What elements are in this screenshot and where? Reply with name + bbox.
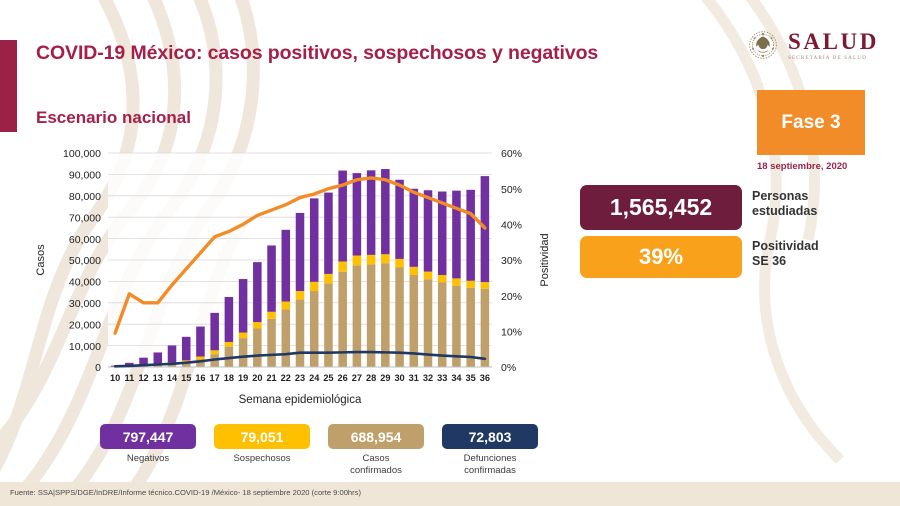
bar-segment (324, 274, 333, 284)
y2-axis-tick-label: 50% (501, 184, 522, 196)
bar-segment (353, 256, 362, 266)
bar-segment (253, 322, 262, 328)
x-axis-tick-label: 34 (451, 373, 462, 383)
y2-axis-title: Positividad (539, 233, 551, 286)
x-axis-tick-label: 29 (380, 373, 390, 383)
y-axis-tick-label: 100,000 (63, 148, 101, 160)
bar-segment (239, 338, 248, 367)
legend-label: Negativos (127, 453, 169, 465)
positividad-label-line1: Positividad (752, 239, 892, 254)
personas-estudiadas-value: 1,565,452 (610, 194, 712, 221)
bar-segment (154, 352, 163, 364)
legend-chip: 797,447 (100, 424, 196, 449)
x-axis-tick-label: 25 (323, 373, 333, 383)
x-axis-tick-label: 26 (338, 373, 348, 383)
bar-segment (338, 261, 347, 271)
x-axis-tick-label: 22 (281, 373, 291, 383)
y-axis-tick-label: 70,000 (69, 212, 101, 224)
bar-segment (239, 333, 248, 339)
bar-segment (225, 297, 234, 342)
y-axis-title: Casos (35, 244, 47, 276)
legend-label: Defuncionesconfirmadas (464, 453, 517, 477)
bar-segment (168, 345, 177, 362)
x-axis-tick-label: 30 (394, 373, 404, 383)
x-axis-tick-label: 15 (181, 373, 191, 383)
bar-segment (452, 191, 461, 279)
legend-item: 797,447Negativos (100, 424, 196, 482)
bar-segment (239, 279, 248, 333)
legend-value: 72,803 (469, 429, 512, 445)
bar-segment (253, 262, 262, 322)
y-axis-tick-label: 80,000 (69, 191, 101, 203)
x-axis-tick-label: 14 (167, 373, 178, 383)
legend-label: Sospechosos (233, 453, 290, 465)
legend-value: 797,447 (123, 429, 174, 445)
legend-label: Casosconfirmados (350, 453, 402, 477)
y-axis-tick-label: 0 (95, 362, 101, 374)
bar-segment (395, 180, 404, 259)
covid-chart: 010,00020,00030,00040,00050,00060,00070,… (0, 135, 560, 410)
x-axis-tick-label: 24 (309, 373, 320, 383)
bar-segment (310, 282, 319, 291)
page-title: COVID-19 México: casos positivos, sospec… (36, 42, 598, 65)
salud-logo: SALUD SECRETARÍA DE SALUD (744, 22, 884, 68)
legend-chip: 79,051 (214, 424, 310, 449)
y-axis-tick-label: 60,000 (69, 234, 101, 246)
personas-label-line2: estudiadas (752, 204, 892, 219)
bar-segment (296, 291, 305, 300)
y-axis-tick-label: 50,000 (69, 255, 101, 267)
x-axis-tick-label: 17 (210, 373, 220, 383)
bar-segment (452, 286, 461, 367)
bar-segment (353, 173, 362, 255)
bar-segment (381, 254, 390, 263)
bar-segment (210, 313, 219, 350)
bar-segment (267, 245, 276, 311)
bar-segment (466, 288, 475, 367)
brand-accent-bar (0, 40, 17, 132)
bar-segment (410, 267, 419, 275)
bar-segment (367, 255, 376, 264)
bar-segment (410, 189, 419, 267)
x-axis-tick-label: 20 (252, 373, 262, 383)
x-axis-tick-label: 33 (437, 373, 447, 383)
x-axis-tick-label: 32 (423, 373, 433, 383)
legend-chip: 72,803 (442, 424, 538, 449)
x-axis-tick-label: 12 (138, 373, 148, 383)
x-axis-tick-label: 36 (480, 373, 490, 383)
bar-segment (267, 319, 276, 367)
x-axis-tick-label: 19 (238, 373, 248, 383)
y2-axis-tick-label: 30% (501, 255, 522, 267)
personas-estudiadas-label: Personas estudiadas (752, 189, 892, 220)
x-axis-tick-label: 11 (124, 373, 134, 383)
bar-segment (466, 281, 475, 288)
bar-segment (324, 193, 333, 274)
bar-segment (196, 327, 205, 357)
legend-item: 688,954Casosconfirmados (328, 424, 424, 482)
bar-segment (253, 328, 262, 367)
fase-label: Fase 3 (781, 112, 840, 134)
y2-axis-tick-label: 10% (501, 327, 522, 339)
y2-axis-tick-label: 40% (501, 220, 522, 232)
personas-estudiadas-value-box: 1,565,452 (580, 185, 742, 230)
salud-wordmark: SALUD (788, 30, 879, 53)
x-axis-tick-label: 13 (153, 373, 163, 383)
legend-item: 72,803Defuncionesconfirmadas (442, 424, 538, 482)
bar-segment (466, 190, 475, 281)
bar-segment (196, 357, 205, 360)
bar-segment (424, 190, 433, 271)
bar-segment (452, 278, 461, 285)
legend-item: 79,051Sospechosos (214, 424, 310, 482)
positividad-label: Positividad SE 36 (752, 239, 892, 270)
y-axis-tick-label: 90,000 (69, 170, 101, 182)
chart-legend: 797,447Negativos79,051Sospechosos688,954… (100, 424, 530, 482)
x-axis-tick-label: 21 (266, 373, 276, 383)
x-axis-tick-label: 27 (352, 373, 362, 383)
y-axis-tick-label: 30,000 (69, 298, 101, 310)
bar-segment (267, 312, 276, 319)
positividad-label-line2: SE 36 (752, 254, 892, 269)
bar-segment (225, 342, 234, 347)
mexico-eagle-seal-icon (744, 26, 782, 64)
x-axis-tick-label: 35 (466, 373, 476, 383)
y-axis-tick-label: 20,000 (69, 319, 101, 331)
y2-axis-tick-label: 20% (501, 291, 522, 303)
legend-chip: 688,954 (328, 424, 424, 449)
bar-segment (367, 170, 376, 255)
x-axis-tick-label: 23 (295, 373, 305, 383)
bar-segment (282, 309, 291, 367)
x-axis-tick-label: 28 (366, 373, 376, 383)
y2-axis-tick-label: 60% (501, 148, 522, 160)
y2-axis-tick-label: 0% (501, 362, 516, 374)
bar-segment (438, 275, 447, 282)
bar-segment (282, 230, 291, 302)
bar-segment (310, 291, 319, 367)
bar-segment (395, 259, 404, 268)
positividad-value-box: 39% (580, 236, 742, 278)
x-axis-tick-label: 16 (195, 373, 205, 383)
bar-segment (296, 213, 305, 291)
x-axis-tick-label: 18 (224, 373, 234, 383)
bar-segment (182, 337, 191, 361)
positividad-value: 39% (639, 244, 683, 270)
legend-value: 79,051 (241, 429, 284, 445)
fase-badge: Fase 3 (757, 90, 865, 155)
y-axis-tick-label: 40,000 (69, 277, 101, 289)
x-axis-tick-label: 10 (110, 373, 120, 383)
bar-segment (282, 302, 291, 310)
bar-segment (310, 198, 319, 281)
footer-source: Fuente: SSA|SPPS/DGE/InDRE/Informe técni… (10, 488, 361, 497)
legend-value: 688,954 (351, 429, 402, 445)
bar-segment (324, 284, 333, 367)
section-subtitle: Escenario nacional (36, 108, 191, 128)
bar-segment (210, 350, 219, 354)
y-axis-tick-label: 10,000 (69, 341, 101, 353)
bar-segment (481, 282, 490, 289)
bar-segment (424, 272, 433, 280)
bar-segment (481, 289, 490, 367)
x-axis-tick-label: 31 (409, 373, 419, 383)
salud-subtitle: SECRETARÍA DE SALUD (788, 55, 879, 61)
bar-segment (296, 300, 305, 367)
personas-label-line1: Personas (752, 189, 892, 204)
x-axis-title: Semana epidemiológica (239, 394, 362, 406)
fase-date: 18 septiembre, 2020 (757, 161, 897, 172)
